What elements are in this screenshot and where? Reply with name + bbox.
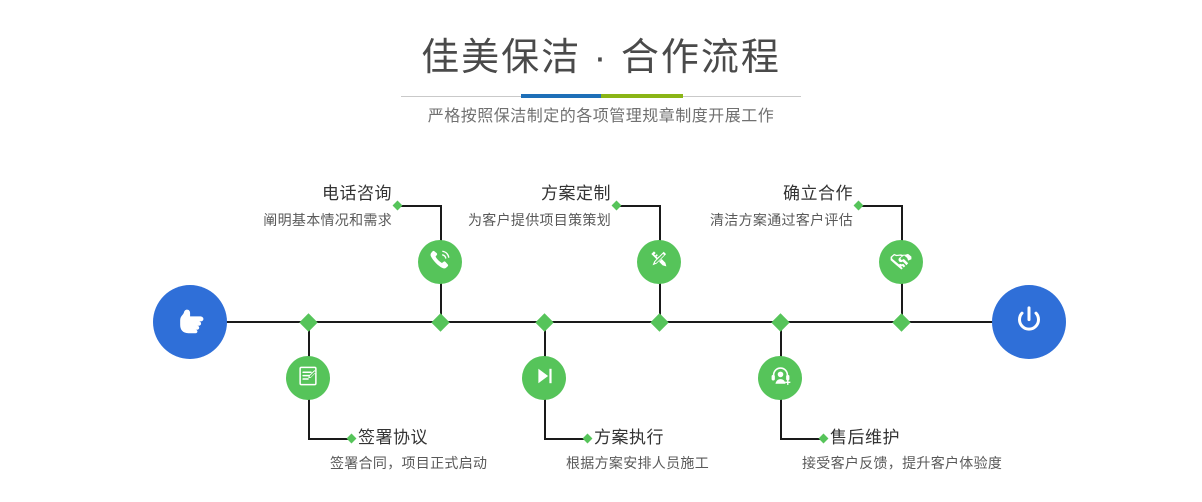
step-6-label-dot [819,434,829,444]
step-3-desc: 为客户提供项目策策划 [360,210,611,230]
step-6-title: 售后维护 [830,427,900,449]
timeline-start-endpoint [153,285,227,359]
step-5-desc: 清洁方案通过客户评估 [602,210,853,230]
step-6-desc: 接受客户反馈，提升客户体验度 [802,453,1002,473]
headset-support-icon [768,363,793,393]
process-flow-timeline: 电话咨询 阐明基本情况和需求 签署协议 签署合同，项目正式启动 [0,150,1202,502]
step-5-connector-horizontal [858,205,902,207]
step-5-label-dot [854,201,864,211]
power-button-icon [1009,300,1049,345]
step-2-title: 签署协议 [358,427,428,449]
step-4-icon-badge[interactable] [522,356,566,400]
step-5-title: 确立合作 [602,183,853,205]
step-2-axis-marker [299,313,317,331]
title-divider [401,94,801,98]
step-1-title: 电话咨询 [140,183,392,205]
pencil-ruler-icon [647,247,672,277]
step-6-axis-marker [771,313,789,331]
step-1-axis-marker [431,313,449,331]
step-4-title: 方案执行 [594,427,664,449]
timeline-end-endpoint [992,285,1066,359]
step-3-connector-horizontal [616,205,660,207]
step-3-axis-marker [650,313,668,331]
step-4-desc: 根据方案安排人员施工 [566,453,709,473]
handshake-icon [888,247,914,278]
step-1-connector-horizontal [397,205,441,207]
divider-green-segment [601,94,683,98]
page-subtitle: 严格按照保洁制定的各项管理规章制度开展工作 [0,104,1202,130]
play-execute-icon [532,364,556,393]
step-2-label-dot [347,434,357,444]
page-header: 佳美保洁 · 合作流程 严格按照保洁制定的各项管理规章制度开展工作 [0,0,1202,150]
step-2-icon-badge[interactable] [286,356,330,400]
step-2-desc: 签署合同，项目正式启动 [330,453,487,473]
step-6-icon-badge[interactable] [758,356,802,400]
step-4-axis-marker [535,313,553,331]
step-1-desc: 阐明基本情况和需求 [140,210,392,230]
divider-blue-segment [521,94,601,98]
step-4-label-dot [583,434,593,444]
step-5-axis-marker [892,313,910,331]
step-3-icon-badge[interactable] [637,240,681,284]
document-sign-icon [296,364,320,393]
page-title: 佳美保洁 · 合作流程 [0,34,1202,82]
step-1-icon-badge[interactable] [418,240,462,284]
pointing-hand-icon [170,300,210,345]
phone-call-icon [427,247,453,278]
step-5-icon-badge[interactable] [879,240,923,284]
